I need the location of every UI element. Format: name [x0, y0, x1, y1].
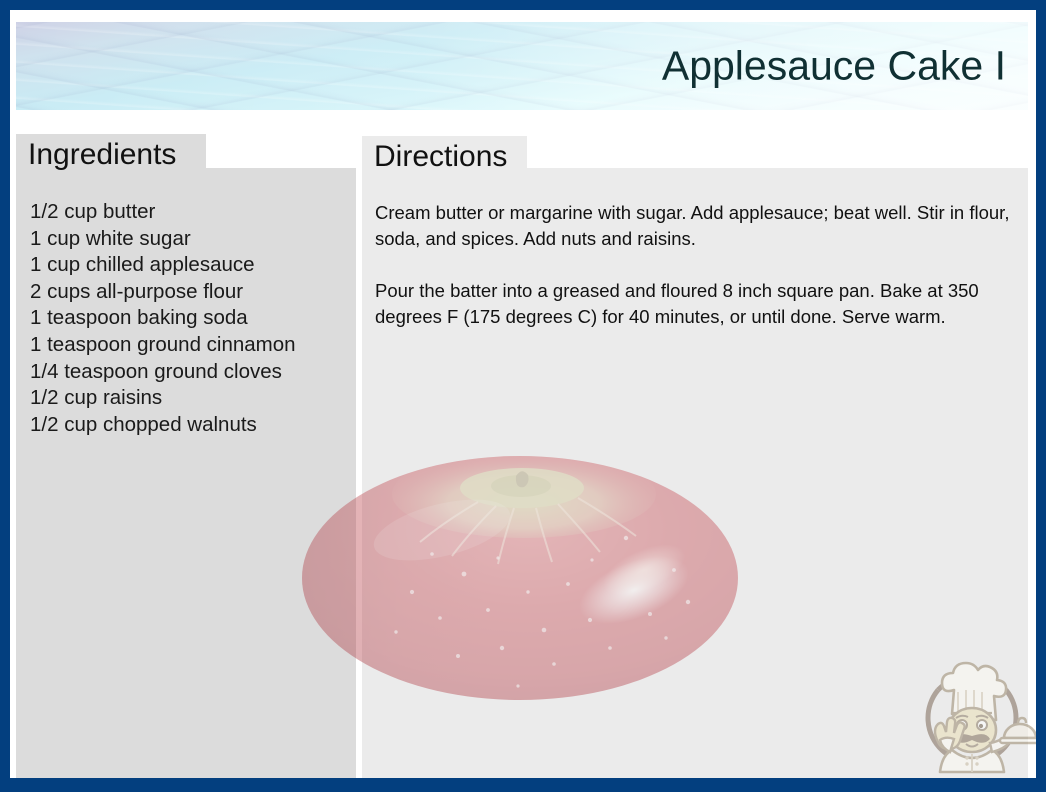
slide-page: Applesauce Cake I	[10, 10, 1036, 778]
page-title: Applesauce Cake I	[662, 43, 1006, 88]
list-item: 1 cup white sugar	[30, 226, 350, 253]
ingredients-heading: Ingredients	[16, 134, 206, 176]
slide-canvas: Applesauce Cake I	[0, 0, 1046, 792]
list-item: 1 cup chilled applesauce	[30, 252, 350, 279]
list-item: 1/2 cup butter	[30, 199, 350, 226]
list-item: 1/4 teaspoon ground cloves	[30, 359, 350, 386]
list-item: 1/2 cup raisins	[30, 385, 350, 412]
directions-heading: Directions	[362, 136, 527, 178]
ingredients-list: 1/2 cup butter 1 cup white sugar 1 cup c…	[30, 199, 350, 438]
directions-body: Cream butter or margarine with sugar. Ad…	[375, 200, 1023, 330]
directions-paragraph: Cream butter or margarine with sugar. Ad…	[375, 200, 1023, 252]
list-item: 1/2 cup chopped walnuts	[30, 412, 350, 439]
slide-header-banner: Applesauce Cake I	[16, 22, 1028, 110]
list-item: 1 teaspoon baking soda	[30, 305, 350, 332]
directions-paragraph: Pour the batter into a greased and flour…	[375, 278, 1023, 330]
list-item: 1 teaspoon ground cinnamon	[30, 332, 350, 359]
list-item: 2 cups all-purpose flour	[30, 279, 350, 306]
